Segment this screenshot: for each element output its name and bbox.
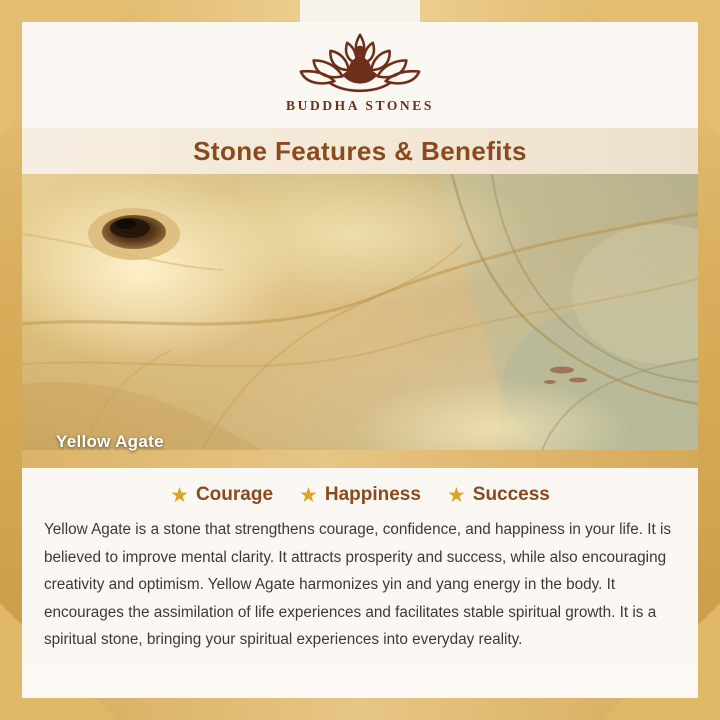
star-icon: ★ bbox=[170, 485, 189, 506]
benefit-item: ★ Courage bbox=[170, 484, 273, 506]
infographic-page: BUDDHA STONES Stone Features & Benefits bbox=[0, 0, 720, 720]
bottom-spacer bbox=[22, 668, 698, 698]
benefit-item: ★ Success bbox=[447, 484, 550, 506]
photo-bottom-gold-strip bbox=[22, 450, 698, 468]
stone-caption: Yellow Agate bbox=[56, 432, 164, 452]
brand-header: BUDDHA STONES bbox=[22, 22, 698, 128]
brand-name: BUDDHA STONES bbox=[286, 98, 434, 114]
page-title: Stone Features & Benefits bbox=[193, 136, 527, 167]
section-title-band: Stone Features & Benefits bbox=[22, 128, 698, 174]
star-icon: ★ bbox=[447, 485, 466, 506]
star-icon: ★ bbox=[299, 485, 318, 506]
benefits-row: ★ Courage ★ Happiness ★ Success bbox=[22, 474, 698, 516]
benefit-label: Courage bbox=[196, 484, 273, 506]
benefit-label: Happiness bbox=[325, 484, 421, 506]
benefit-label: Success bbox=[473, 484, 550, 506]
lotus-meditation-icon bbox=[280, 30, 440, 96]
content-panel: BUDDHA STONES Stone Features & Benefits bbox=[22, 22, 698, 698]
yellow-agate-stone-photo bbox=[22, 174, 698, 450]
description-paragraph: Yellow Agate is a stone that strengthens… bbox=[44, 516, 684, 654]
benefit-item: ★ Happiness bbox=[299, 484, 421, 506]
